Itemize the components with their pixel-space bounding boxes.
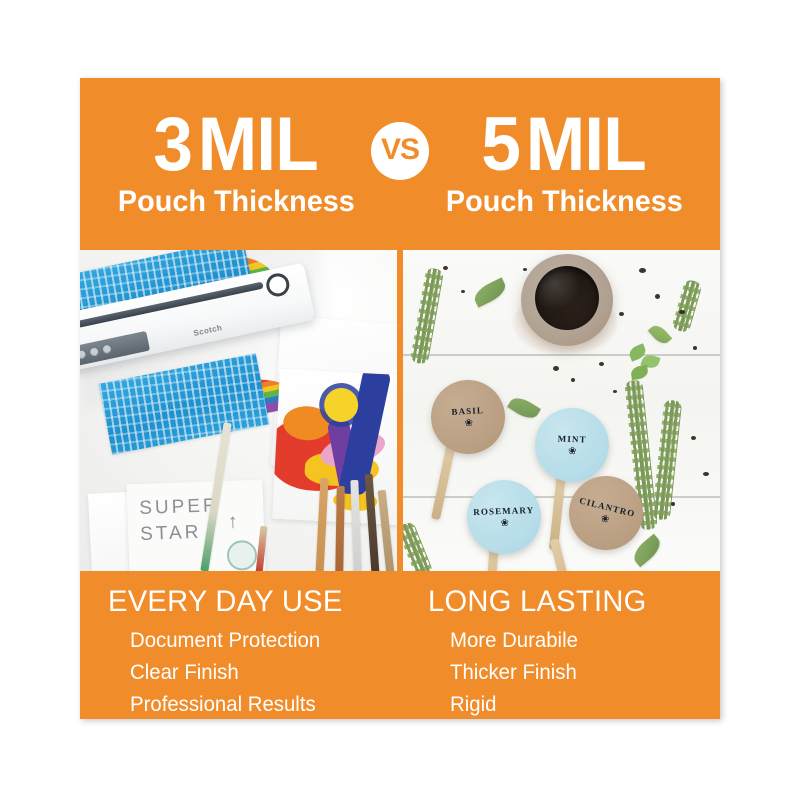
herb-sprig-icon: ❀ — [600, 514, 610, 525]
headline-5mil-subtitle: Pouch Thickness — [446, 185, 683, 218]
headline-3mil-unit: MIL — [198, 102, 318, 187]
versus-badge: VS — [371, 122, 429, 180]
benefits-title-longlasting: LONG LASTING — [428, 585, 719, 619]
terracotta-pot — [521, 254, 613, 346]
laminator-release-button — [102, 345, 111, 354]
headline-3mil-number: 3 — [154, 102, 193, 187]
headline-5mil-number: 5 — [482, 102, 521, 187]
header-band: 3MIL Pouch Thickness VS 5MIL Pouch Thick… — [80, 78, 720, 250]
benefit-item: Thicker Finish — [450, 657, 720, 689]
benefit-item: Rigid — [450, 689, 720, 719]
seedling-sprout — [629, 346, 659, 386]
herb-marker-rosemary-label: ROSEMARY — [473, 504, 534, 516]
herb-sprig-icon: ❀ — [500, 518, 508, 528]
benefits-band: EVERY DAY USE Document Protection Clear … — [80, 571, 720, 719]
benefits-column-longlasting: LONG LASTING More Durabile Thicker Finis… — [428, 571, 720, 719]
headline-5mil: 5MIL — [482, 110, 647, 180]
header-column-3mil: 3MIL Pouch Thickness — [86, 78, 386, 250]
laminator-knob — [264, 271, 291, 298]
infographic-stage: 3MIL Pouch Thickness VS 5MIL Pouch Thick… — [0, 0, 800, 800]
paintbrush-2 — [335, 486, 345, 571]
versus-badge-label: VS — [381, 135, 419, 165]
headline-5mil-unit: MIL — [526, 102, 646, 187]
benefit-item: Professional Results — [130, 689, 400, 719]
benefits-title-everyday: EVERY DAY USE — [108, 585, 399, 619]
headline-3mil-subtitle: Pouch Thickness — [118, 185, 355, 218]
photo-laminator-kids-art: Scotch SUPER S — [80, 250, 397, 571]
benefit-item: More Durabile — [450, 625, 720, 657]
header-column-5mil: 5MIL Pouch Thickness — [414, 78, 714, 250]
laminator-setting-button — [90, 347, 99, 356]
laminator-brand-label: Scotch — [193, 323, 223, 338]
super-star-note: SUPER STAR ↑ — [126, 480, 265, 571]
benefit-item: Document Protection — [130, 625, 400, 657]
laminator-power-button — [80, 350, 86, 359]
headline-3mil: 3MIL — [154, 110, 319, 180]
benefit-item: Clear Finish — [130, 657, 400, 689]
benefits-column-everyday: EVERY DAY USE Document Protection Clear … — [108, 571, 408, 719]
photo-herb-garden-markers: BASIL ❀ MINT ❀ ROSEMARY ❀ CILANTRO ❀ — [403, 250, 720, 571]
note-arrow-icon: ↑ — [227, 511, 238, 534]
herb-marker-mint-label: MINT — [558, 433, 587, 444]
product-comparison-panel: 3MIL Pouch Thickness VS 5MIL Pouch Thick… — [80, 78, 720, 719]
herb-sprig-icon: ❀ — [568, 446, 576, 456]
photo-strip: Scotch SUPER S — [80, 250, 720, 571]
balloon-doodle — [226, 540, 257, 571]
herb-marker-basil-label: BASIL — [451, 405, 484, 417]
benefits-list-everyday: Document Protection Clear Finish Profess… — [108, 625, 408, 719]
benefits-list-longlasting: More Durabile Thicker Finish Rigid — [428, 625, 720, 719]
herb-sprig-icon: ❀ — [464, 418, 472, 428]
